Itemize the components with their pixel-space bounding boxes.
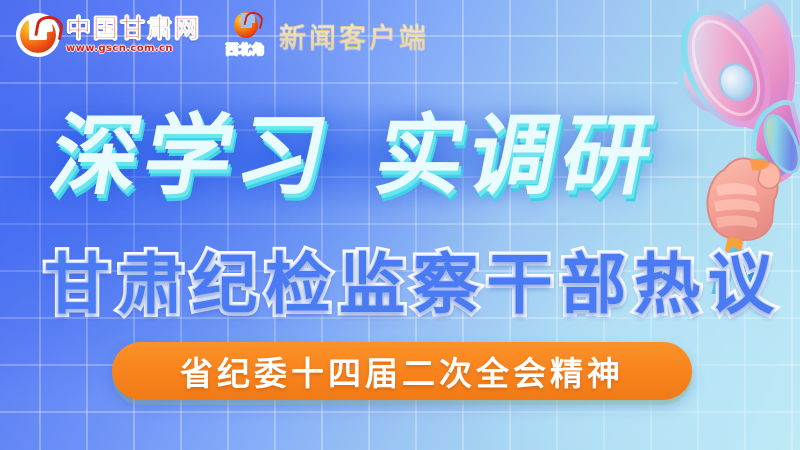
header-logo-bar: 中国甘肃网 www.gscn.com.cn 西北角 新闻客户端	[16, 8, 429, 62]
headline-line-2: 甘 肃 纪 检 监 察 干 部 热 议	[44, 240, 774, 330]
headline-line-1: 深学习 实调研	[52, 96, 752, 216]
site-name: 中国甘肃网	[66, 16, 201, 41]
headline2-char: 检	[265, 252, 331, 318]
headline2-char: 甘	[44, 252, 110, 318]
headline2-char: 监	[339, 252, 405, 318]
subtitle-banner: 省纪委十四届二次全会精神	[112, 342, 692, 400]
headline2-char: 肃	[118, 252, 184, 318]
app-mark-label: 西北角	[225, 39, 265, 58]
headline2-char: 察	[413, 252, 479, 318]
headline2-char: 干	[487, 252, 553, 318]
headline-word-2: 实调研	[368, 112, 664, 200]
poster-canvas: 中国甘肃网 www.gscn.com.cn 西北角 新闻客户端	[0, 0, 800, 450]
site-logo[interactable]: 中国甘肃网 www.gscn.com.cn	[16, 13, 201, 57]
headline2-char: 部	[560, 252, 626, 318]
headline2-char: 议	[708, 252, 774, 318]
app-name: 新闻客户端	[279, 16, 429, 55]
site-url: www.gscn.com.cn	[66, 44, 201, 54]
headline2-char: 纪	[192, 252, 258, 318]
subtitle-banner-text: 省纪委十四届二次全会精神	[180, 347, 624, 395]
site-logo-text: 中国甘肃网 www.gscn.com.cn	[66, 16, 201, 54]
gscn-flame-logo-icon	[16, 13, 60, 57]
xibeijiao-flame-logo-icon: 西北角	[225, 12, 265, 58]
app-logo[interactable]: 西北角 新闻客户端	[211, 12, 429, 58]
headline2-char: 热	[634, 252, 700, 318]
headline-word-1: 深学习	[43, 112, 339, 200]
